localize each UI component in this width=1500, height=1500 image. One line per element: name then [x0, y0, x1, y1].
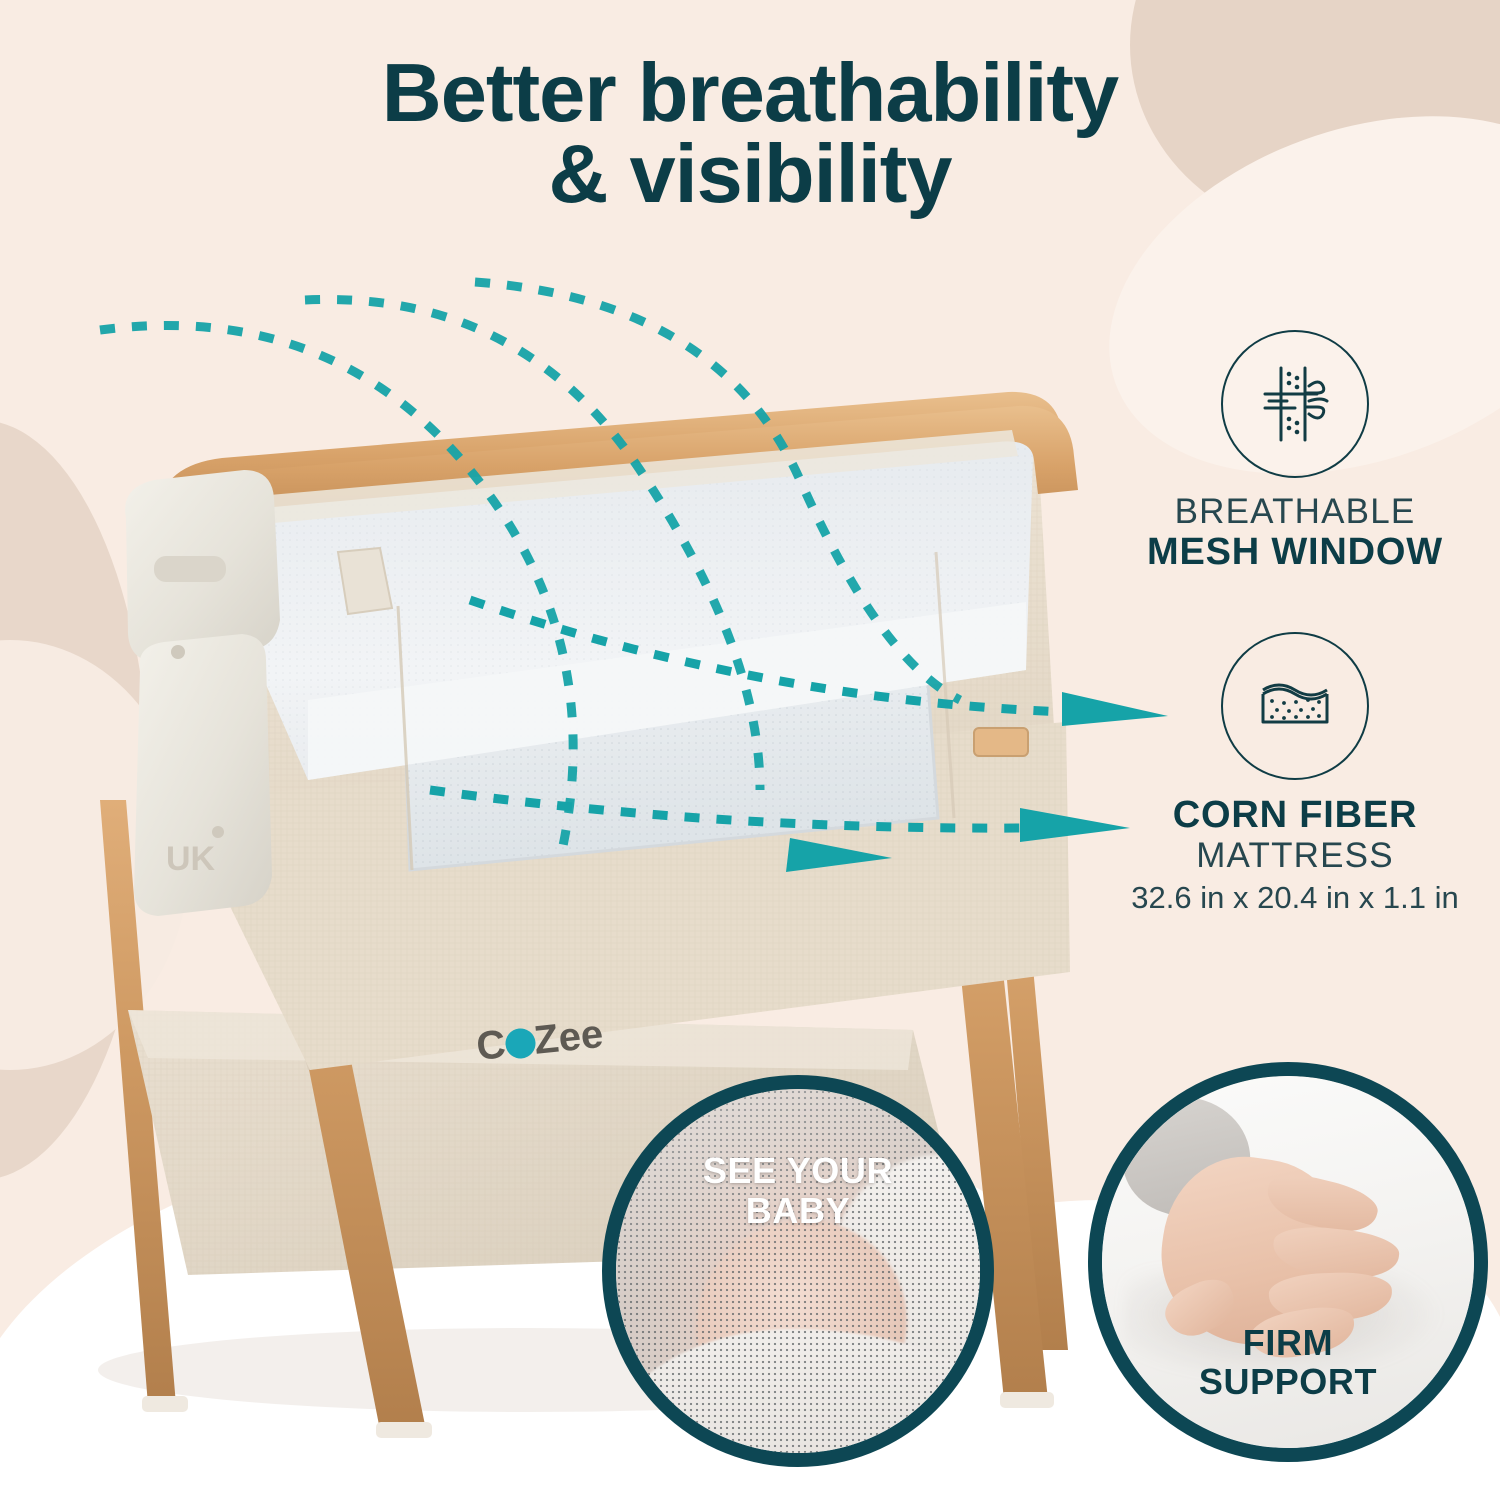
breathable-mesh-icon [1221, 330, 1369, 478]
feature-corn-fiber-mattress: CORN FIBER MATTRESS 32.6 in x 20.4 in x … [1100, 632, 1490, 917]
caption-line-1: SEE YOUR [616, 1151, 980, 1191]
feature-breathable-mesh: BREATHABLE MESH WINDOW [1100, 330, 1490, 574]
feature-label-light: MATTRESS [1100, 836, 1490, 875]
feature-callout-list: BREATHABLE MESH WINDOW [1100, 330, 1490, 923]
photo-callout-see-your-baby: SEE YOUR BABY [602, 1075, 994, 1467]
caption-line-1: FIRM [1102, 1323, 1474, 1363]
svg-text:C: C [474, 1022, 507, 1069]
leather-brand-tag [974, 728, 1028, 756]
feature-label-bold: CORN FIBER [1100, 794, 1490, 837]
headline: Better breathability & visibility [0, 52, 1500, 215]
bassinet-left-hinge-module: UK [125, 470, 280, 916]
photo-caption-firm-support: FIRM SUPPORT [1102, 1323, 1474, 1402]
side-brand-mark: UK [166, 840, 216, 878]
svg-text:Zee: Zee [532, 1012, 605, 1063]
caption-line-2: BABY [616, 1191, 980, 1231]
feature-label-light: BREATHABLE [1100, 492, 1490, 531]
mesh-sheen-overlay [616, 1089, 980, 1453]
headline-line-1: Better breathability [382, 46, 1118, 139]
feature-label-bold: MESH WINDOW [1100, 531, 1490, 574]
infographic-canvas: Better breathability & visibility [0, 0, 1500, 1500]
photo-callout-firm-support: FIRM SUPPORT [1088, 1062, 1488, 1462]
caption-line-2: SUPPORT [1102, 1362, 1474, 1402]
mattress-dimensions: 32.6 in x 20.4 in x 1.1 in [1100, 879, 1490, 916]
corn-fiber-mattress-icon [1221, 632, 1369, 780]
headline-line-2: & visibility [0, 133, 1500, 214]
photo-baby-image [616, 1089, 980, 1453]
photo-caption-see-your-baby: SEE YOUR BABY [616, 1151, 980, 1230]
